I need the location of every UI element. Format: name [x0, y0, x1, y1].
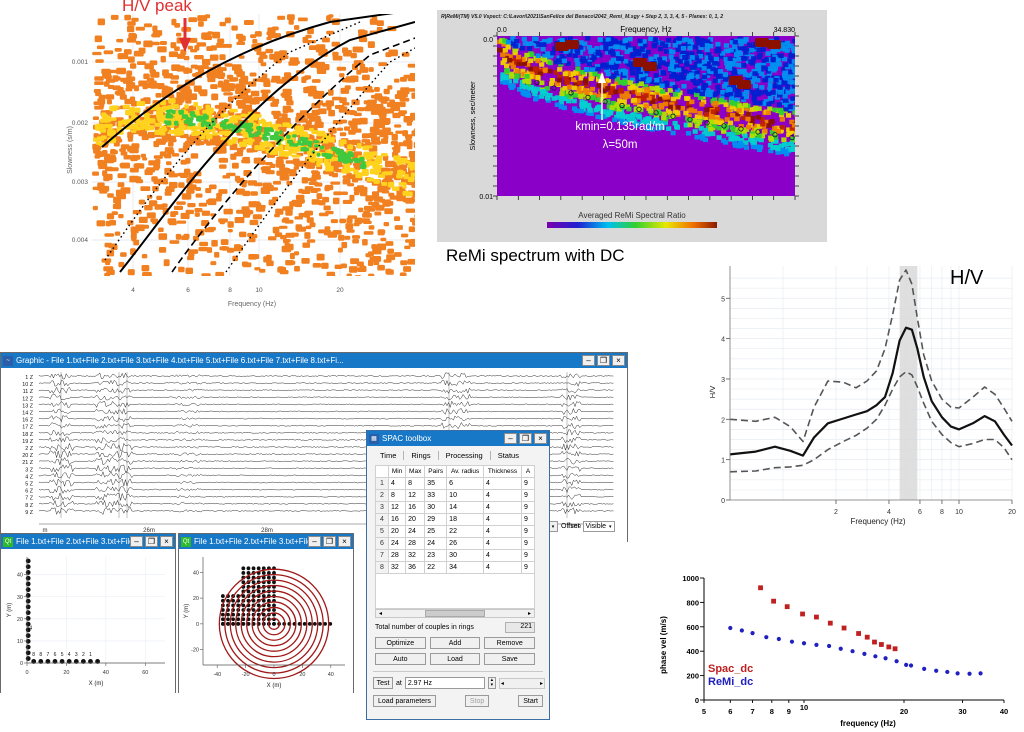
- y-tick: 0: [695, 696, 699, 705]
- colorbar-label: Averaged ReMi Spectral Ratio: [578, 211, 686, 220]
- y-tick: 30: [17, 595, 23, 601]
- table-cell[interactable]: 4: [389, 478, 406, 490]
- remove-button[interactable]: Remove: [484, 637, 535, 649]
- table-cell[interactable]: 4: [484, 526, 522, 538]
- station-point: [26, 616, 31, 621]
- y-tick: 400: [686, 647, 699, 656]
- y-tick: 600: [686, 623, 699, 632]
- y-tick: 20: [193, 596, 199, 602]
- lag-point: [262, 571, 266, 575]
- lag-point: [272, 603, 276, 607]
- row-number: 4: [376, 514, 389, 526]
- channel-label: 17 Z: [22, 425, 33, 431]
- station-point: [26, 656, 31, 661]
- row-number: 6: [376, 538, 389, 550]
- channel-label: 21 Z: [22, 460, 33, 466]
- data-point: [771, 599, 776, 604]
- data-point: [865, 635, 870, 640]
- table-cell[interactable]: 9: [522, 562, 535, 574]
- maximize-button[interactable]: ❐: [519, 433, 532, 444]
- array-window-title: File 1.txt+File 2.txt+File 3.txt+File 4.…: [16, 537, 130, 546]
- x-tick: 40: [103, 670, 109, 676]
- lag-point: [247, 566, 251, 570]
- table-cell[interactable]: 9: [522, 550, 535, 562]
- data-point: [785, 604, 790, 609]
- seismic-trace: [39, 373, 613, 379]
- y-axis-label: H/V: [708, 386, 717, 399]
- table-cell[interactable]: 34: [447, 562, 484, 574]
- qt-icon: Qt: [181, 537, 191, 547]
- legend-spac: Spac_dc: [708, 663, 753, 675]
- table-cell[interactable]: 30: [425, 502, 447, 514]
- array-geometry-window[interactable]: Qt File 1.txt+File 2.txt+File 3.txt+File…: [0, 533, 176, 693]
- channel-label: 2 Z: [25, 446, 33, 452]
- channel-label: 7 Z: [25, 496, 33, 502]
- table-cell[interactable]: 6: [447, 478, 484, 490]
- data-point: [956, 671, 960, 675]
- minimize-button[interactable]: –: [130, 536, 143, 547]
- data-point: [934, 669, 938, 673]
- stop-button: Stop: [465, 695, 489, 707]
- y-tick: 0: [721, 498, 725, 505]
- lag-point: [272, 576, 276, 580]
- test-frequency-row[interactable]: Test at 2.97 Hz ▴▾ ◂▸: [373, 677, 545, 689]
- table-cell[interactable]: 16: [406, 502, 425, 514]
- x-axis-label: X (m): [267, 683, 282, 689]
- spac-toolbox-window[interactable]: ▦ SPAC toolbox – ❐ × Time Rings Processi…: [366, 430, 550, 720]
- optimize-button[interactable]: Optimize: [375, 637, 426, 649]
- table-cell[interactable]: 25: [425, 526, 447, 538]
- table-cell[interactable]: 14: [447, 502, 484, 514]
- table-cell[interactable]: 22: [447, 526, 484, 538]
- tab-processing[interactable]: Processing: [439, 451, 491, 460]
- table-header-row: MinMaxPairsAv. radiusThicknessA: [376, 466, 535, 478]
- y-tick: 0: [20, 661, 23, 667]
- lag-point: [267, 576, 271, 580]
- x-tick: 0: [25, 670, 28, 676]
- x-tick: 7: [750, 707, 754, 716]
- y-tick: 2: [721, 417, 725, 424]
- channel-label: 6 Z: [25, 489, 33, 495]
- data-point: [862, 652, 866, 656]
- frequency-scrollbar[interactable]: ◂▸: [499, 678, 545, 689]
- lambda-label: λ=50m: [603, 139, 638, 151]
- start-button[interactable]: Start: [518, 695, 543, 707]
- table-cell[interactable]: 35: [425, 478, 447, 490]
- table-cell[interactable]: 18: [447, 514, 484, 526]
- table-cell[interactable]: 10: [447, 490, 484, 502]
- auto-button[interactable]: Auto: [375, 653, 426, 665]
- data-point: [894, 659, 898, 663]
- row-number: 2: [376, 490, 389, 502]
- scroll-right-arrow-icon[interactable]: ▸: [525, 610, 534, 617]
- column-header[interactable]: Thickness: [484, 466, 522, 478]
- test-at-label: at: [396, 680, 402, 687]
- lag-point: [241, 622, 245, 626]
- station-point: [26, 593, 31, 598]
- lag-point: [226, 613, 230, 617]
- data-point: [814, 615, 819, 620]
- x-tick: 8: [228, 287, 232, 294]
- x-tick: 6: [728, 707, 732, 716]
- maximize-button[interactable]: ❐: [145, 536, 158, 547]
- x-axis-label: Frequency (Hz): [228, 301, 276, 308]
- x-tick: 5: [702, 707, 706, 716]
- lag-point: [221, 617, 225, 621]
- test-frequency-input[interactable]: 2.97 Hz: [405, 677, 485, 689]
- save-button[interactable]: Save: [484, 653, 535, 665]
- scroll-thumb[interactable]: [425, 610, 485, 617]
- table-cell[interactable]: 23: [425, 550, 447, 562]
- channel-label: 14 Z: [22, 411, 33, 417]
- waveform-icon: ~: [3, 356, 13, 366]
- x-tick: 8: [940, 509, 944, 516]
- data-point: [814, 643, 818, 647]
- x-tick: 60: [142, 670, 148, 676]
- table-cell[interactable]: 8: [406, 478, 425, 490]
- minimize-button[interactable]: –: [308, 536, 321, 547]
- station-point: [26, 564, 31, 569]
- data-point: [800, 612, 805, 617]
- y-tick: 1000: [682, 574, 699, 583]
- ring-actions-row2[interactable]: Auto Load Save: [375, 653, 535, 665]
- kmin-label: kmin=0.135rad/m: [575, 121, 664, 133]
- y-top-label: 0.0: [483, 37, 493, 44]
- table-cell[interactable]: 29: [425, 514, 447, 526]
- table-cell[interactable]: 4: [484, 478, 522, 490]
- table-cell[interactable]: 24: [425, 538, 447, 550]
- seismic-trace: [39, 387, 613, 393]
- table-cell[interactable]: 4: [484, 538, 522, 550]
- data-point: [758, 585, 763, 590]
- total-couples-row: Total number of couples in rings 221: [375, 622, 535, 633]
- seismic-trace: [39, 401, 613, 407]
- table-cell[interactable]: 8: [389, 490, 406, 502]
- y-tick: 4: [721, 337, 725, 344]
- table-cell[interactable]: 12: [406, 490, 425, 502]
- offset-control[interactable]: ▾ Offset Visible ▾: [548, 521, 615, 532]
- spac-titlebar[interactable]: ▦ SPAC toolbox – ❐ ×: [367, 431, 549, 446]
- hv-peak-label: H/V peak: [122, 0, 192, 16]
- y-axis-label: Slowness, sec/meter: [468, 81, 477, 151]
- table-row[interactable]: 2812331049: [376, 490, 535, 502]
- table-cell[interactable]: 33: [425, 490, 447, 502]
- data-point: [945, 670, 949, 674]
- table-row[interactable]: 72832233049: [376, 550, 535, 562]
- x-tick: 20: [1008, 509, 1016, 516]
- x-max-label: 34.830: [774, 27, 796, 34]
- lag-point: [221, 613, 225, 617]
- lag-point: [241, 571, 245, 575]
- station-label: 7: [47, 652, 50, 658]
- x-tick: 4: [887, 509, 891, 516]
- lag-point: [313, 622, 317, 626]
- graphic-window-titlebar[interactable]: ~ Graphic - File 1.txt+File 2.txt+File 3…: [1, 353, 627, 368]
- x-tick: 8: [770, 707, 774, 716]
- channel-label: 20 Z: [22, 453, 33, 459]
- table-cell[interactable]: 12: [389, 502, 406, 514]
- slowness-spectrum-panel: 0.001 0.002 0.003 0.004 4 6 8 10 20 Freq…: [30, 0, 430, 318]
- data-point: [856, 631, 861, 636]
- channel-label: 16 Z: [22, 418, 33, 424]
- table-cell[interactable]: 4: [484, 490, 522, 502]
- rings-table-empty-area: [375, 574, 535, 609]
- array-window-titlebar[interactable]: Qt File 1.txt+File 2.txt+File 3.txt+File…: [1, 534, 175, 549]
- table-cell[interactable]: 9: [522, 490, 535, 502]
- rings-window-titlebar[interactable]: Qt File 1.txt+File 2.txt+File 3.txt+File…: [179, 534, 353, 549]
- station-label: 8: [39, 652, 42, 658]
- lag-point: [252, 566, 256, 570]
- x-tick: 10: [955, 509, 963, 516]
- data-point: [879, 642, 884, 647]
- legend-remi: ReMi_dc: [708, 676, 753, 688]
- station-point: [26, 610, 31, 615]
- channel-label: 12 Z: [22, 396, 33, 402]
- table-cell[interactable]: 4: [484, 562, 522, 574]
- data-point: [893, 646, 898, 651]
- channel-label: 13 Z: [22, 403, 33, 409]
- seismic-trace: [39, 380, 613, 386]
- data-point: [750, 631, 754, 635]
- lag-point: [221, 594, 225, 598]
- close-button[interactable]: ×: [534, 433, 547, 444]
- station-point: [26, 599, 31, 604]
- x-axis-label: frequency (Hz): [840, 719, 896, 728]
- y-tick: 0.004: [72, 237, 89, 244]
- column-header[interactable]: A: [522, 466, 535, 478]
- table-cell[interactable]: 22: [425, 562, 447, 574]
- table-cell[interactable]: 36: [406, 562, 425, 574]
- scroll-right-arrow-icon: ▸: [539, 680, 544, 687]
- y-tick: 1: [721, 458, 725, 465]
- data-point: [904, 663, 908, 667]
- y-tick: 0.002: [72, 120, 89, 127]
- lag-point: [226, 617, 230, 621]
- data-point: [872, 640, 877, 645]
- lag-point: [272, 580, 276, 584]
- rings-plot[interactable]: -40-2002040-2002040X (m)Y (m): [179, 549, 353, 693]
- lag-point: [236, 622, 240, 626]
- x-tick: -20: [242, 672, 250, 678]
- x-tick: 40: [1000, 707, 1008, 716]
- column-header[interactable]: Pairs: [425, 466, 447, 478]
- lag-point: [231, 617, 235, 621]
- table-cell[interactable]: 28: [389, 550, 406, 562]
- table-row[interactable]: 83236223449: [376, 562, 535, 574]
- y-tick: 40: [193, 570, 199, 576]
- row-number: 3: [376, 502, 389, 514]
- column-header[interactable]: [376, 466, 389, 478]
- run-controls-row[interactable]: Load parameters Stop Start: [373, 695, 543, 707]
- table-cell[interactable]: 9: [522, 538, 535, 550]
- y-tick: 20: [17, 617, 23, 623]
- minimize-button[interactable]: –: [582, 355, 595, 366]
- column-header[interactable]: Min: [389, 466, 406, 478]
- station-label: 5: [61, 652, 64, 658]
- data-point: [842, 626, 847, 631]
- panel-title: H/V: [950, 267, 984, 289]
- y-tick: 0.003: [72, 179, 89, 186]
- tab-time[interactable]: Time: [373, 451, 404, 460]
- data-point: [886, 645, 891, 650]
- y-axis-label: Y (m): [184, 604, 190, 619]
- table-cell[interactable]: 9: [522, 502, 535, 514]
- maximize-button[interactable]: ❐: [597, 355, 610, 366]
- table-cell[interactable]: 32: [406, 550, 425, 562]
- lag-point: [241, 566, 245, 570]
- table-cell[interactable]: 9: [522, 478, 535, 490]
- table-cell[interactable]: 9: [522, 514, 535, 526]
- station-point: [26, 576, 31, 581]
- divider: [373, 671, 543, 672]
- tab-status[interactable]: Status: [491, 451, 526, 460]
- column-header[interactable]: Max: [406, 466, 425, 478]
- table-row[interactable]: 31216301449: [376, 502, 535, 514]
- data-point: [873, 654, 877, 658]
- station-label: 2: [82, 652, 85, 658]
- lag-point: [308, 622, 312, 626]
- lag-point: [226, 622, 230, 626]
- row-number: 8: [376, 562, 389, 574]
- lag-point: [231, 622, 235, 626]
- lag-point: [272, 622, 276, 626]
- table-row[interactable]: 41620291849: [376, 514, 535, 526]
- offset-select[interactable]: Visible ▾: [583, 521, 615, 532]
- qt-icon: Qt: [3, 537, 13, 547]
- x-tick: 0: [272, 672, 275, 678]
- y-tick: 0: [196, 622, 199, 628]
- y-tick: 40: [17, 573, 23, 579]
- table-cell[interactable]: 9: [522, 526, 535, 538]
- close-button[interactable]: ×: [160, 536, 173, 547]
- x-axis-label: X (m): [89, 681, 104, 687]
- x-tick: 20: [63, 670, 69, 676]
- channel-label: 5 Z: [25, 482, 33, 488]
- table-cell[interactable]: 28: [406, 538, 425, 550]
- x-tick: 30: [958, 707, 966, 716]
- station-point: [26, 559, 31, 564]
- table-cell[interactable]: 20: [389, 526, 406, 538]
- table-cell[interactable]: 20: [406, 514, 425, 526]
- graphic-window-title: Graphic - File 1.txt+File 2.txt+File 3.t…: [16, 356, 582, 365]
- hv-panel: 24681020012345 Frequency (Hz) H/V H/V: [700, 252, 1024, 537]
- tab-rings[interactable]: Rings: [404, 451, 438, 460]
- total-couples-label: Total number of couples in rings: [375, 624, 505, 631]
- column-header[interactable]: Av. radius: [447, 466, 484, 478]
- remi-window-title: R|ReMi(TM) V5.0 Vspect: C:\Lavori\2021\S…: [441, 14, 723, 20]
- table-row[interactable]: 14835649: [376, 478, 535, 490]
- x-tick: 10: [255, 287, 263, 294]
- lag-point: [262, 613, 266, 617]
- spac-tabs[interactable]: Time Rings Processing Status: [367, 446, 549, 462]
- row-number: 5: [376, 526, 389, 538]
- minimize-button[interactable]: –: [504, 433, 517, 444]
- seismic-trace: [39, 423, 613, 429]
- x-tick: -40: [213, 672, 221, 678]
- channel-label: 18 Z: [22, 432, 33, 438]
- ring-actions-row1[interactable]: Optimize Add Remove: [375, 637, 535, 649]
- table-cell[interactable]: 4: [484, 550, 522, 562]
- table-cell[interactable]: 32: [389, 562, 406, 574]
- channel-label: 4 Z: [25, 474, 33, 480]
- data-point: [790, 640, 794, 644]
- station-label: 1: [89, 652, 92, 658]
- y-axis-label: Slowness (s/m): [67, 126, 74, 174]
- seismic-trace: [39, 415, 613, 421]
- rings-table[interactable]: MinMaxPairsAv. radiusThicknessA 14835649…: [375, 465, 535, 574]
- maximize-button[interactable]: ❐: [323, 536, 336, 547]
- x-tick: 20: [299, 672, 305, 678]
- x-tick: 4: [131, 287, 135, 294]
- row-number: 7: [376, 550, 389, 562]
- table-row[interactable]: 52024252249: [376, 526, 535, 538]
- station-point: [26, 605, 31, 610]
- station-label: 14: [27, 625, 33, 631]
- rings-window[interactable]: Qt File 1.txt+File 2.txt+File 3.txt+File…: [178, 533, 354, 693]
- data-point: [828, 621, 833, 626]
- y-tick: 0.001: [72, 59, 89, 66]
- x-axis-label: Frequency (Hz): [850, 517, 905, 526]
- lag-point: [267, 603, 271, 607]
- chevron-down-icon: ▾: [609, 524, 612, 530]
- test-button[interactable]: Test: [373, 677, 393, 689]
- table-cell[interactable]: 16: [389, 514, 406, 526]
- table-cell[interactable]: 24: [406, 526, 425, 538]
- lag-point: [257, 566, 261, 570]
- x-tick: 9: [787, 707, 791, 716]
- frequency-stepper[interactable]: ▴▾: [488, 677, 496, 689]
- station-point: [26, 645, 31, 650]
- table-row[interactable]: 62428242649: [376, 538, 535, 550]
- add-button[interactable]: Add: [430, 637, 481, 649]
- channel-label: 19 Z: [22, 439, 33, 445]
- row-number: 1: [376, 478, 389, 490]
- remi-spectrum-panel: kmin=0.135rad/m λ=50m 0.0 34.830 Frequen…: [437, 10, 827, 242]
- seismic-trace: [39, 394, 613, 400]
- y-axis-label: Y (m): [7, 603, 13, 618]
- array-plot[interactable]: 148876543210204060010203040X (m)Y (m): [1, 549, 175, 693]
- y-tick: 3: [721, 377, 725, 384]
- data-point: [740, 628, 744, 632]
- station-label: 6: [54, 652, 57, 658]
- load-button[interactable]: Load: [430, 653, 481, 665]
- offset-label: Offset: [561, 523, 580, 530]
- spac-icon: ▦: [369, 434, 379, 444]
- table-cell[interactable]: 24: [389, 538, 406, 550]
- channel-label: 9 Z: [25, 510, 33, 516]
- data-point: [909, 663, 913, 667]
- close-button[interactable]: ×: [338, 536, 351, 547]
- channel-label: 11 Z: [23, 389, 34, 395]
- close-button[interactable]: ×: [612, 355, 625, 366]
- table-cell[interactable]: 4: [484, 514, 522, 526]
- seismic-trace: [39, 409, 613, 415]
- table-cell[interactable]: 4: [484, 502, 522, 514]
- station-point: [26, 639, 31, 644]
- data-point: [967, 672, 971, 676]
- data-point: [850, 649, 854, 653]
- x-tick: 2: [834, 509, 838, 516]
- data-point: [883, 656, 887, 660]
- x-tick: 6: [918, 509, 922, 516]
- station-point: [26, 570, 31, 575]
- scroll-left-arrow-icon[interactable]: ◂: [376, 610, 385, 617]
- load-parameters-button[interactable]: Load parameters: [373, 695, 436, 707]
- rings-table-hscrollbar[interactable]: ◂ ▸: [375, 609, 535, 618]
- table-cell[interactable]: 26: [447, 538, 484, 550]
- table-cell[interactable]: 30: [447, 550, 484, 562]
- lag-point: [303, 622, 307, 626]
